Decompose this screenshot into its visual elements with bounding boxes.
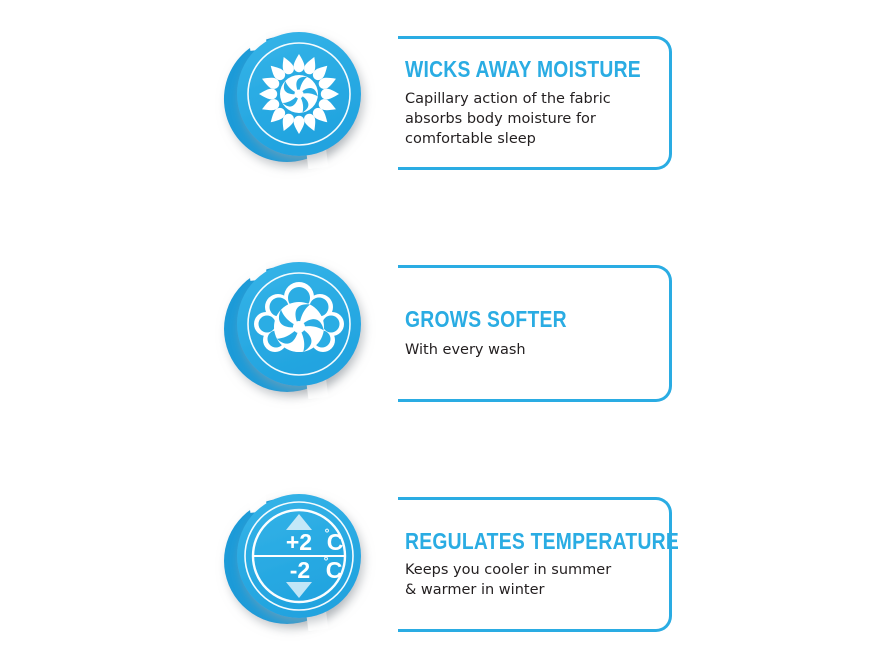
feature-card: REGULATES TEMPERATURE Keeps you cooler i… [398, 497, 672, 632]
feature-title: GROWS SOFTER [405, 307, 618, 331]
feature-card: GROWS SOFTER With every wash [398, 265, 672, 402]
feature-item: WICKS AWAY MOISTURE Capillary action of … [215, 18, 675, 193]
feature-description: Capillary action of the fabric absorbs b… [405, 89, 659, 149]
svg-text:C: C [327, 529, 344, 555]
feature-card: WICKS AWAY MOISTURE Capillary action of … [398, 36, 672, 170]
feature-description: With every wash [405, 340, 659, 360]
feature-title: WICKS AWAY MOISTURE [405, 57, 618, 81]
feature-item: +2 ° C -2 ° C REGULATES TEMPERATURE Keep… [215, 480, 675, 655]
temp-down-label: -2 [290, 557, 310, 583]
temp-up-label: +2 [286, 529, 312, 555]
feature-list: WICKS AWAY MOISTURE Capillary action of … [0, 0, 878, 663]
grows-softer-icon [215, 248, 380, 413]
feature-description: Keeps you cooler in summer & warmer in w… [405, 560, 659, 600]
svg-text:C: C [326, 557, 343, 583]
feature-item: GROWS SOFTER With every wash [215, 248, 675, 423]
regulates-temperature-icon: +2 ° C -2 ° C [215, 480, 380, 645]
wicks-away-moisture-icon [215, 18, 380, 183]
feature-title: REGULATES TEMPERATURE [405, 529, 618, 553]
